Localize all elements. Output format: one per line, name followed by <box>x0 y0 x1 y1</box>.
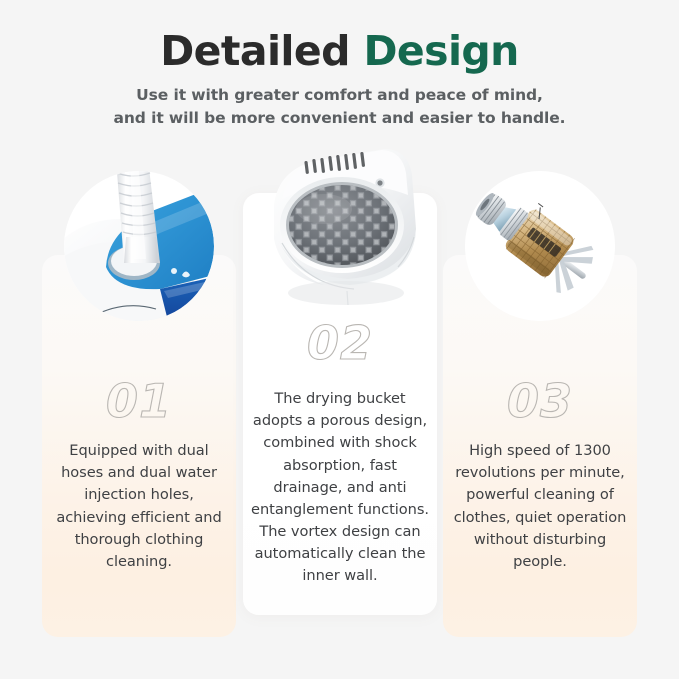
page-title-primary: Detailed <box>160 27 363 75</box>
step-number-02: 02 <box>243 320 437 366</box>
page-title-accent: Design <box>364 27 519 75</box>
feature-text-03: High speed of 1300 revolutions per minut… <box>450 440 630 573</box>
high-speed-motor-photo <box>465 171 615 321</box>
page-title: Detailed Design <box>0 27 679 75</box>
page-subtitle: Use it with greater comfort and peace of… <box>0 84 679 130</box>
page-subtitle-line-2: and it will be more convenient and easie… <box>0 107 679 130</box>
step-number-03: 03 <box>443 378 637 424</box>
page-subtitle-line-1: Use it with greater comfort and peace of… <box>0 84 679 107</box>
header: Detailed Design Use it with greater comf… <box>0 0 679 130</box>
porous-drying-bucket-photo <box>252 141 428 317</box>
feature-text-02: The drying bucket adopts a porous design… <box>250 388 430 588</box>
feature-text-01: Equipped with dual hoses and dual water … <box>49 440 229 573</box>
dual-hose-water-inlet-photo <box>64 171 214 321</box>
step-number-01: 01 <box>42 378 236 424</box>
